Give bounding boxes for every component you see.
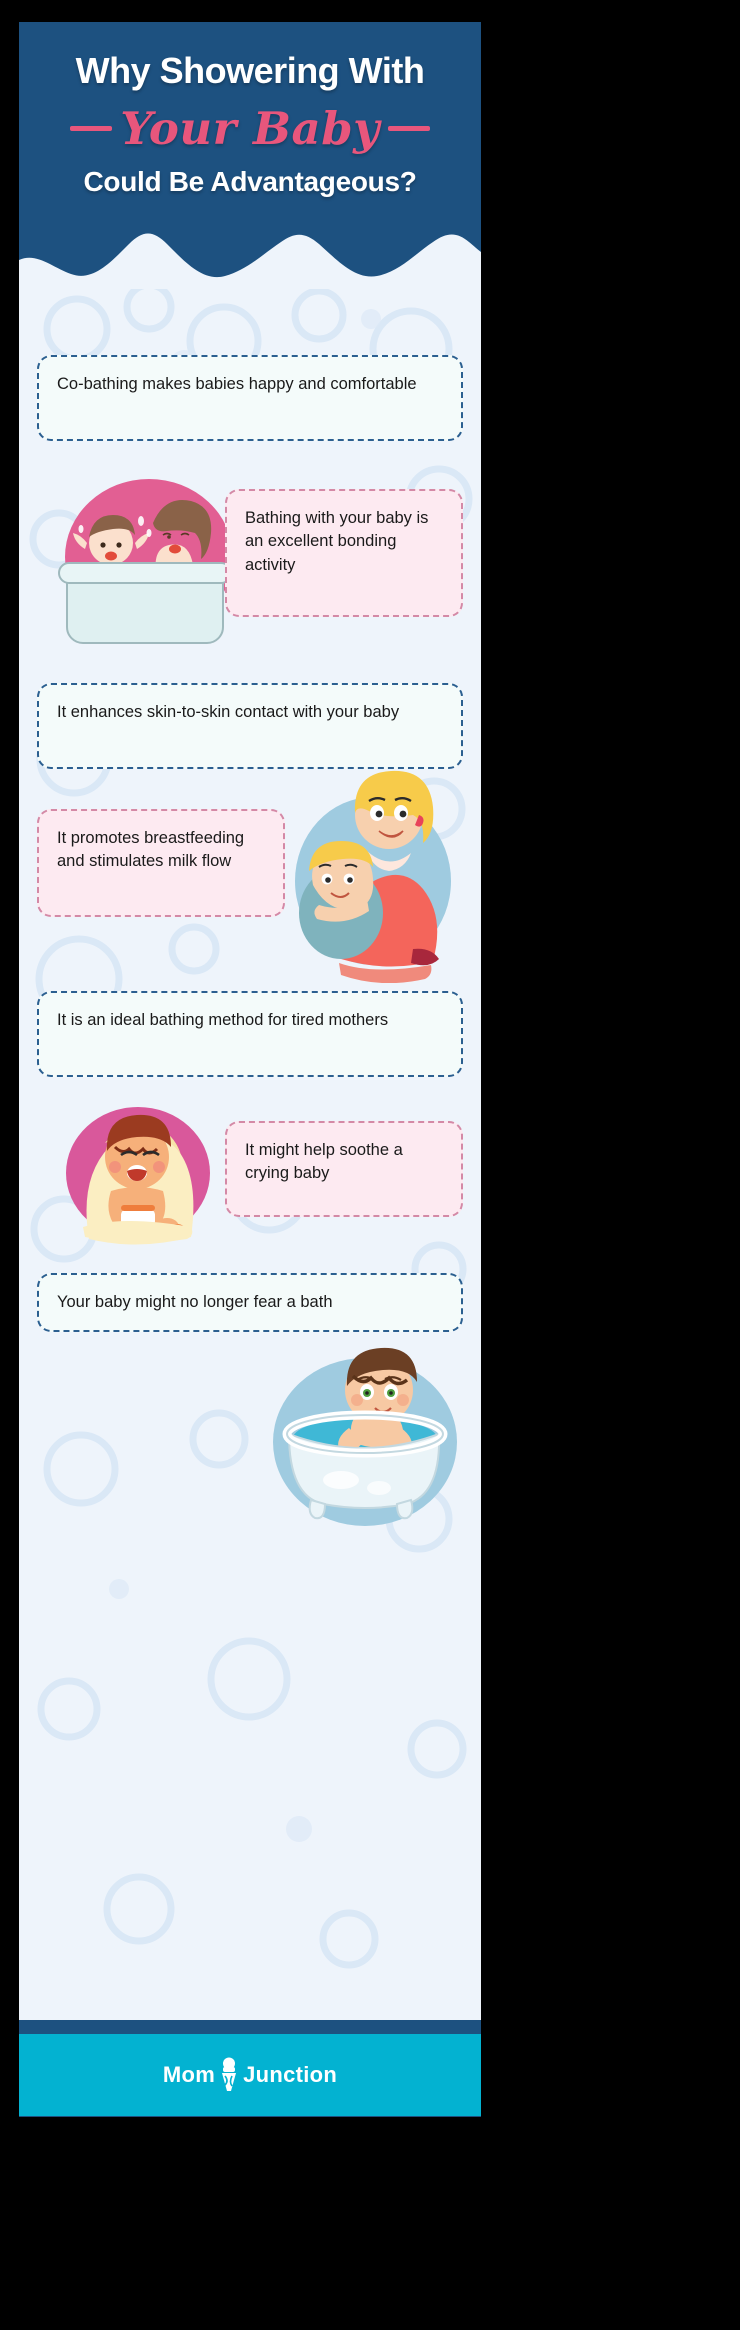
list-item: Co-bathing makes babies happy and comfor… <box>37 355 463 441</box>
fact-text-3: It enhances skin-to-skin contact with yo… <box>57 703 399 721</box>
fact-text-4: It promotes breastfeeding and stimulates… <box>57 829 244 870</box>
items-list: Co-bathing makes babies happy and comfor… <box>19 355 481 1552</box>
title-script-row: Your Baby <box>19 98 481 160</box>
fact-text-5: It is an ideal bathing method for tired … <box>57 1011 388 1029</box>
fact-text-6: It might help soothe a crying baby <box>245 1141 403 1182</box>
title-dash-right <box>388 126 430 131</box>
list-item <box>37 1342 463 1552</box>
title-line-1: Why Showering With <box>19 52 481 90</box>
fact-box-6[interactable]: It might help soothe a crying baby <box>225 1121 463 1217</box>
list-item: Your baby might no longer fear a bath <box>37 1273 463 1332</box>
fact-text-7: Your baby might no longer fear a bath <box>57 1291 333 1314</box>
poster-footer: Mom Junction <box>19 2034 481 2116</box>
list-item: It promotes breastfeeding and stimulates… <box>37 801 463 981</box>
infographic-poster: Why Showering With Your Baby Could Be Ad… <box>19 22 481 2117</box>
title-script: Your Baby <box>116 106 384 151</box>
fact-box-1[interactable]: Co-bathing makes babies happy and comfor… <box>37 355 463 441</box>
fact-text-1: Co-bathing makes babies happy and comfor… <box>57 375 417 393</box>
footer-divider <box>19 2020 481 2034</box>
logo-text-junction: Junction <box>243 2062 337 2088</box>
title-dash-left <box>70 126 112 131</box>
list-item: Bathing with your baby is an excellent b… <box>37 471 463 661</box>
poster-body: Co-bathing makes babies happy and comfor… <box>19 289 481 2020</box>
baby-in-bathtub-illustration <box>253 1342 473 1542</box>
mother-holding-baby-illustration <box>269 753 467 983</box>
poster-header: Why Showering With Your Baby Could Be Ad… <box>19 22 481 290</box>
list-item: It might help soothe a crying baby <box>37 1103 463 1253</box>
baby-bottle-icon <box>216 2057 242 2093</box>
title-line-3: Could Be Advantageous? <box>19 166 481 198</box>
fact-box-7[interactable]: Your baby might no longer fear a bath <box>37 1273 463 1332</box>
mother-and-baby-in-tub-illustration <box>45 471 253 649</box>
fact-box-5[interactable]: It is an ideal bathing method for tired … <box>37 991 463 1077</box>
wave-divider-icon <box>19 222 481 290</box>
fact-text-2: Bathing with your baby is an excellent b… <box>245 509 428 574</box>
fact-box-2[interactable]: Bathing with your baby is an excellent b… <box>225 489 463 617</box>
baby-in-towel-illustration <box>49 1099 227 1249</box>
list-item: It is an ideal bathing method for tired … <box>37 991 463 1077</box>
momjunction-logo[interactable]: Mom Junction <box>163 2057 337 2093</box>
fact-box-4[interactable]: It promotes breastfeeding and stimulates… <box>37 809 285 917</box>
logo-text-mom: Mom <box>163 2062 215 2088</box>
